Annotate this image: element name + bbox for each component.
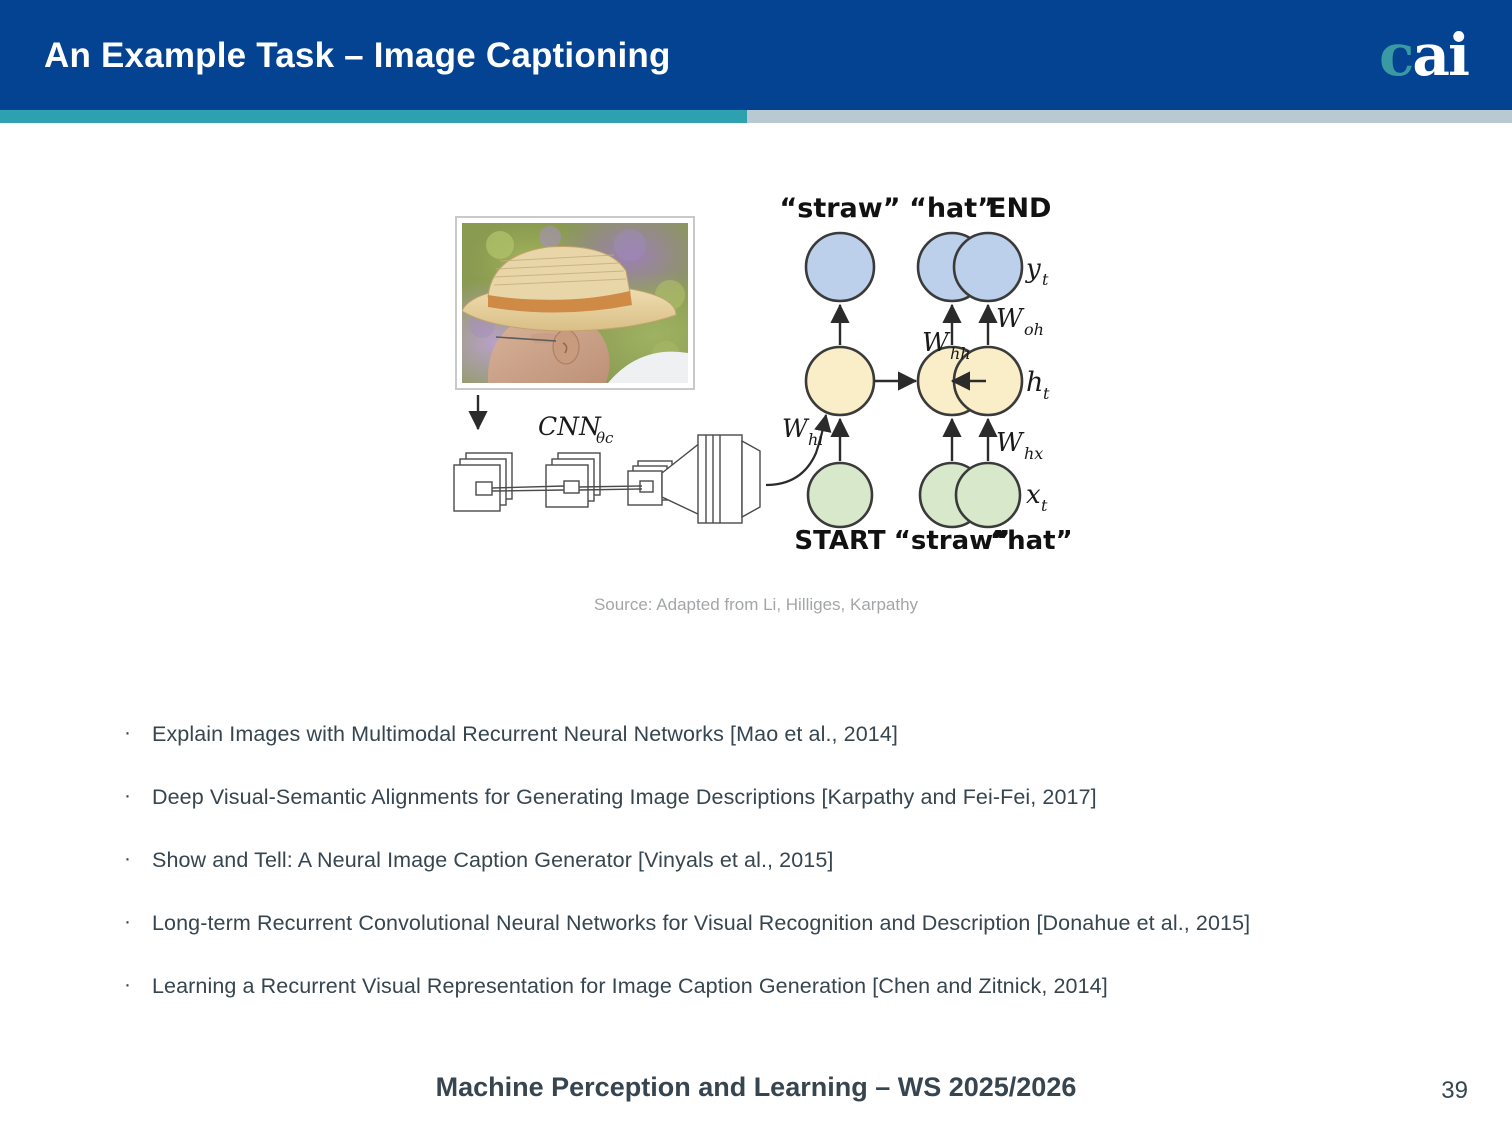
page-title: An Example Task – Image Captioning: [44, 36, 671, 76]
x-label: x: [1026, 480, 1041, 510]
cai-logo: cai: [1379, 26, 1468, 84]
output-node-3: [954, 233, 1022, 301]
input-node-row: [808, 463, 1020, 527]
y-label: y: [1025, 254, 1041, 284]
bullet-marker: ·: [124, 970, 152, 1000]
list-item: · Show and Tell: A Neural Image Caption …: [124, 844, 1414, 876]
output-label-2: “hat”: [909, 193, 995, 224]
accent-bar-left: [0, 110, 747, 123]
rnn-captioning-figure: CNN θc W hi “straw” “hat” END y t h t ST…: [430, 185, 1070, 555]
w-hh-subscript: hh: [950, 344, 971, 363]
reference-list: · Explain Images with Multimodal Recurre…: [124, 718, 1414, 1033]
list-item-text: Show and Tell: A Neural Image Caption Ge…: [152, 844, 833, 876]
w-hx-label: W: [996, 428, 1025, 458]
w-hh-label: W: [922, 328, 951, 358]
logo-letter-c: c: [1379, 21, 1412, 89]
slide-page-number: 39: [1441, 1077, 1468, 1105]
cnn-subscript-label: θc: [596, 429, 614, 447]
accent-bar-right: [747, 110, 1512, 123]
source-photo: [456, 217, 694, 389]
bullet-marker: ·: [124, 907, 152, 937]
bullet-marker: ·: [124, 718, 152, 748]
list-item-text: Deep Visual-Semantic Alignments for Gene…: [152, 781, 1097, 813]
slide-header: An Example Task – Image Captioning cai: [0, 0, 1512, 110]
list-item: · Long-term Recurrent Convolutional Neur…: [124, 907, 1414, 939]
input-node-1: [808, 463, 872, 527]
input-to-hidden-arrows: [840, 419, 988, 461]
bullet-marker: ·: [124, 781, 152, 811]
x-subscript: t: [1041, 496, 1048, 515]
footer-course-title: Machine Perception and Learning – WS 202…: [0, 1072, 1512, 1103]
list-item-text: Explain Images with Multimodal Recurrent…: [152, 718, 898, 750]
cnn-label: CNN: [538, 412, 602, 441]
bullet-marker: ·: [124, 844, 152, 874]
w-hx-subscript: hx: [1024, 444, 1043, 463]
output-label-3: END: [988, 193, 1051, 224]
accent-bar: [0, 110, 1512, 123]
cnn-block: [454, 435, 760, 523]
list-item-text: Learning a Recurrent Visual Representati…: [152, 970, 1108, 1002]
input-label-3: “hat”: [990, 526, 1070, 555]
w-oh-subscript: oh: [1024, 320, 1044, 339]
h-label: h: [1026, 367, 1043, 398]
w-hi-subscript: hi: [808, 430, 823, 449]
w-hi-label: W: [782, 414, 810, 443]
hidden-to-output-arrows: [840, 305, 988, 345]
figure-source-caption: Source: Adapted from Li, Hilliges, Karpa…: [0, 595, 1512, 615]
list-item: · Learning a Recurrent Visual Representa…: [124, 970, 1414, 1002]
w-oh-label: W: [996, 304, 1025, 334]
list-item-text: Long-term Recurrent Convolutional Neural…: [152, 907, 1250, 939]
y-subscript: t: [1042, 270, 1049, 289]
h-subscript: t: [1043, 384, 1050, 403]
list-item: · Explain Images with Multimodal Recurre…: [124, 718, 1414, 750]
logo-letters-ai: ai: [1412, 21, 1468, 89]
input-label-1: START: [794, 526, 885, 555]
hidden-node-1: [806, 347, 874, 415]
output-node-1: [806, 233, 874, 301]
output-node-row: [806, 233, 1022, 301]
list-item: · Deep Visual-Semantic Alignments for Ge…: [124, 781, 1414, 813]
output-label-1: “straw”: [780, 193, 901, 224]
rnn-diagram-svg: CNN θc W hi “straw” “hat” END y t h t ST…: [430, 185, 1070, 555]
input-node-3: [956, 463, 1020, 527]
